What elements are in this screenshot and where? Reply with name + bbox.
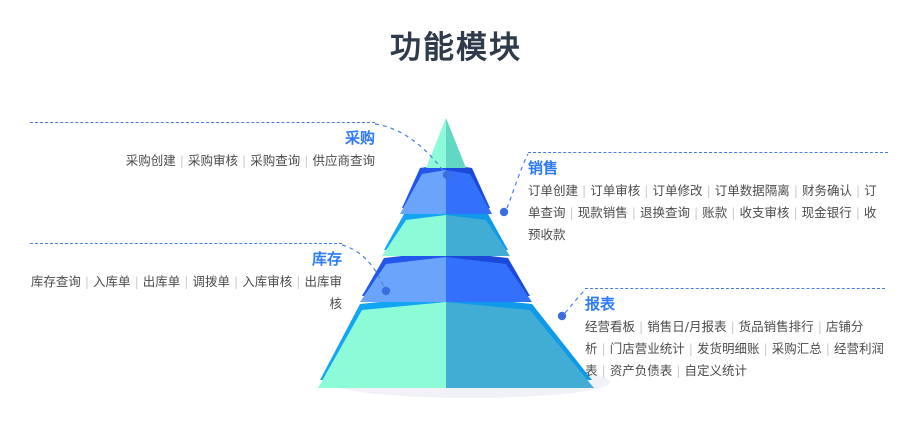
callout-item[interactable]: 订单审核 [590, 183, 640, 198]
item-separator: | [856, 183, 860, 198]
callout-item[interactable]: 采购汇总 [772, 341, 822, 356]
item-separator: | [731, 205, 735, 220]
callout-item[interactable]: 货品销售排行 [739, 319, 814, 334]
item-separator: | [730, 319, 734, 334]
callout-rule-purchase [30, 122, 375, 123]
item-separator: | [826, 341, 830, 356]
item-separator: | [689, 341, 693, 356]
pyramid-apex [426, 118, 466, 168]
pyramid-level-2 [400, 164, 492, 214]
item-separator: | [296, 274, 300, 289]
callout-item[interactable]: 发货明细账 [697, 341, 760, 356]
callout-items-report: 经营看板|销售日/月报表|货品销售排行|店铺分析|门店营业统计|发货明细账|采购… [585, 316, 885, 382]
callout-item[interactable]: 库存查询 [31, 274, 81, 289]
item-separator: | [135, 274, 139, 289]
callout-item[interactable]: 调拨单 [193, 274, 231, 289]
callout-item[interactable]: 收支审核 [739, 205, 789, 220]
callout-item[interactable]: 出库审核 [304, 274, 342, 311]
item-separator: | [582, 183, 586, 198]
callout-heading-purchase: 采购 [30, 127, 375, 149]
callout-item[interactable]: 销售日/月报表 [647, 319, 726, 334]
callout-heading-stock: 库存 [30, 248, 342, 270]
item-separator: | [676, 363, 680, 378]
item-separator: | [818, 319, 822, 334]
item-separator: | [856, 205, 860, 220]
callout-sales: 销售 订单创建|订单审核|订单修改|订单数据隔离|财务确认|订单查询|现款销售|… [528, 152, 888, 246]
item-separator: | [644, 183, 648, 198]
item-separator: | [639, 319, 643, 334]
item-separator: | [793, 205, 797, 220]
item-separator: | [602, 363, 606, 378]
callout-purchase: 采购 采购创建|采购审核|采购查询|供应商查询 [30, 122, 375, 172]
item-separator: | [180, 153, 184, 168]
item-separator: | [706, 183, 710, 198]
callout-item[interactable]: 采购创建 [126, 153, 176, 168]
callout-item[interactable]: 财务确认 [802, 183, 852, 198]
item-separator: | [234, 274, 238, 289]
callout-item[interactable]: 采购审核 [188, 153, 238, 168]
callout-rule-stock [30, 243, 342, 244]
callout-item[interactable]: 采购查询 [250, 153, 300, 168]
item-separator: | [570, 205, 574, 220]
callout-items-sales: 订单创建|订单审核|订单修改|订单数据隔离|财务确认|订单查询|现款销售|退换查… [528, 180, 888, 246]
item-separator: | [85, 274, 89, 289]
callout-rule-sales [528, 152, 888, 153]
pyramid-level-4 [360, 251, 532, 302]
callout-item[interactable]: 订单修改 [652, 183, 702, 198]
pyramid-level-5 [318, 295, 594, 388]
item-separator: | [694, 205, 698, 220]
callout-item[interactable]: 门店营业统计 [610, 341, 685, 356]
pyramid-level-3 [382, 209, 510, 256]
callout-heading-report: 报表 [585, 293, 885, 315]
item-separator: | [632, 205, 636, 220]
callout-item[interactable]: 现款销售 [578, 205, 628, 220]
item-separator: | [794, 183, 798, 198]
callout-rule-report [585, 288, 885, 289]
callout-heading-sales: 销售 [528, 157, 888, 179]
callout-items-stock: 库存查询|入库单|出库单|调拨单|入库审核|出库审核 [30, 271, 342, 315]
callout-item[interactable]: 资产负债表 [610, 363, 673, 378]
callout-item[interactable]: 退换查询 [640, 205, 690, 220]
item-separator: | [242, 153, 246, 168]
callout-item[interactable]: 出库单 [143, 274, 181, 289]
callout-item[interactable]: 订单数据隔离 [715, 183, 790, 198]
item-separator: | [602, 341, 606, 356]
item-separator: | [304, 153, 308, 168]
item-separator: | [184, 274, 188, 289]
callout-item[interactable]: 入库单 [93, 274, 131, 289]
callout-item[interactable]: 现金银行 [802, 205, 852, 220]
page-title: 功能模块 [0, 22, 912, 67]
item-separator: | [763, 341, 767, 356]
callout-item[interactable]: 经营看板 [585, 319, 635, 334]
callout-item[interactable]: 供应商查询 [312, 153, 375, 168]
callout-report: 报表 经营看板|销售日/月报表|货品销售排行|店铺分析|门店营业统计|发货明细账… [585, 288, 885, 382]
callout-stock: 库存 库存查询|入库单|出库单|调拨单|入库审核|出库审核 [30, 243, 342, 315]
callout-items-purchase: 采购创建|采购审核|采购查询|供应商查询 [30, 150, 375, 172]
callout-item[interactable]: 自定义统计 [684, 363, 747, 378]
callout-item[interactable]: 订单创建 [528, 183, 578, 198]
callout-item[interactable]: 入库审核 [242, 274, 292, 289]
callout-item[interactable]: 账款 [702, 205, 727, 220]
